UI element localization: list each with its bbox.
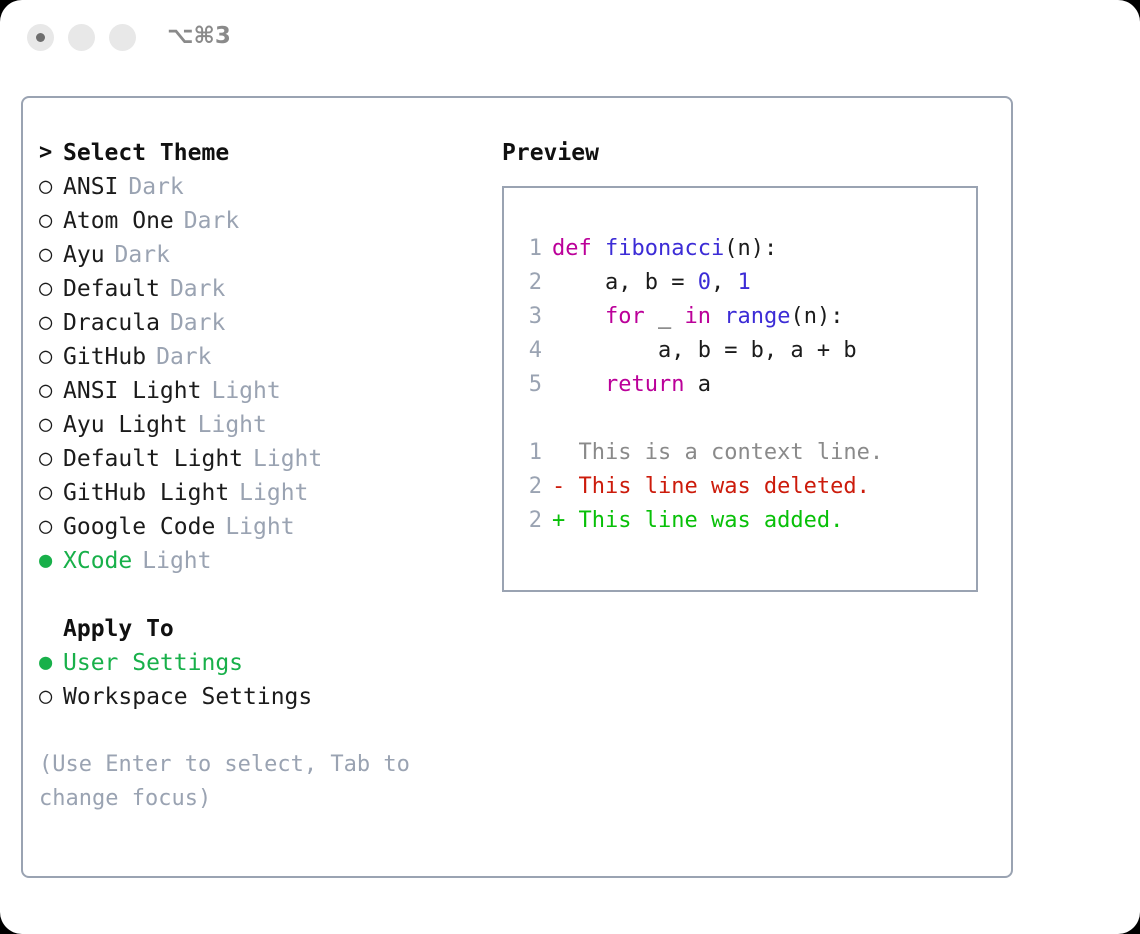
- theme-option-label: Atom One: [63, 204, 174, 238]
- theme-option-label: ANSI Light: [63, 374, 201, 408]
- code-token-num: 1: [737, 270, 750, 295]
- diff-line-add: 2+ This line was added.: [520, 504, 976, 538]
- radio-unselected-icon: ○: [39, 238, 63, 272]
- theme-option-label: GitHub Light: [63, 476, 229, 510]
- theme-option-default-light[interactable]: ○Default LightLight: [39, 442, 469, 476]
- theme-option-category: Dark: [115, 238, 170, 272]
- apply-to-option-workspace-settings[interactable]: ○Workspace Settings: [39, 680, 469, 714]
- list-spacer: [39, 578, 469, 612]
- diff-line-del: 2- This line was deleted.: [520, 470, 976, 504]
- theme-picker-panel: >Select Theme ○ANSIDark○Atom OneDark○Ayu…: [21, 96, 1013, 878]
- theme-option-category: Dark: [170, 272, 225, 306]
- code-line: 3 for _ in range(n):: [520, 300, 976, 334]
- theme-list-column: >Select Theme ○ANSIDark○Atom OneDark○Ayu…: [39, 136, 469, 816]
- code-indent: [552, 304, 605, 329]
- code-token-plain: a, b = b, a + b: [658, 338, 857, 363]
- code-token-plain: (n):: [790, 304, 843, 329]
- code-diff-gap: [520, 402, 976, 436]
- code-token-fn: range: [724, 304, 790, 329]
- theme-option-label: Ayu: [63, 238, 105, 272]
- preview-box: 1def fibonacci(n):2 a, b = 0, 13 for _ i…: [502, 186, 978, 592]
- apply-to-option-list: ●User Settings○Workspace Settings: [39, 646, 469, 714]
- theme-option-google-code[interactable]: ○Google CodeLight: [39, 510, 469, 544]
- theme-option-ayu[interactable]: ○AyuDark: [39, 238, 469, 272]
- diff-line-number: 2: [520, 470, 542, 504]
- apply-to-option-label: User Settings: [63, 646, 243, 680]
- code-token-plain: (n):: [724, 236, 777, 261]
- theme-option-ansi[interactable]: ○ANSIDark: [39, 170, 469, 204]
- theme-option-label: ANSI: [63, 170, 118, 204]
- diff-text: This is a context line.: [579, 440, 884, 465]
- window-dot-second[interactable]: [68, 24, 95, 51]
- app-window: ⌥⌘3 >Select Theme ○ANSIDark○Atom OneDark…: [0, 0, 1140, 934]
- theme-option-category: Light: [225, 510, 294, 544]
- code-line: 5 return a: [520, 368, 976, 402]
- radio-unselected-icon: ○: [39, 374, 63, 408]
- radio-unselected-icon: ○: [39, 340, 63, 374]
- prompt-caret-icon: >: [39, 136, 63, 170]
- radio-unselected-icon: ○: [39, 408, 63, 442]
- radio-unselected-icon: ○: [39, 510, 63, 544]
- radio-unselected-icon: ○: [39, 170, 63, 204]
- theme-option-category: Light: [253, 442, 322, 476]
- code-token-plain: _: [658, 304, 685, 329]
- code-line-number: 4: [520, 334, 542, 368]
- theme-option-xcode[interactable]: ●XCodeLight: [39, 544, 469, 578]
- preview-column: Preview 1def fibonacci(n):2 a, b = 0, 13…: [502, 136, 992, 592]
- code-token-plain: a: [698, 372, 711, 397]
- diff-line-number: 2: [520, 504, 542, 538]
- diff-line-number: 1: [520, 436, 542, 470]
- apply-to-option-user-settings[interactable]: ●User Settings: [39, 646, 469, 680]
- diff-text: This line was added.: [579, 508, 844, 533]
- code-line: 4 a, b = b, a + b: [520, 334, 976, 368]
- radio-unselected-icon: ○: [39, 306, 63, 340]
- theme-option-label: Dracula: [63, 306, 160, 340]
- code-token-num: 0: [698, 270, 711, 295]
- diff-sign: [552, 440, 579, 465]
- window-dot-third[interactable]: [109, 24, 136, 51]
- theme-option-atom-one[interactable]: ○Atom OneDark: [39, 204, 469, 238]
- window-dot-active-core: [36, 33, 45, 42]
- select-theme-heading: >Select Theme: [39, 136, 469, 170]
- radio-unselected-icon: ○: [39, 442, 63, 476]
- code-sample: 1def fibonacci(n):2 a, b = 0, 13 for _ i…: [520, 232, 976, 402]
- code-line: 2 a, b = 0, 1: [520, 266, 976, 300]
- theme-option-category: Light: [198, 408, 267, 442]
- code-token-plain: ,: [711, 270, 738, 295]
- apply-to-option-label: Workspace Settings: [63, 680, 312, 714]
- code-token-kw: for: [605, 304, 658, 329]
- window-controls: [27, 24, 136, 51]
- apply-to-heading: Apply To: [39, 612, 469, 646]
- theme-option-category: Dark: [156, 340, 211, 374]
- theme-option-category: Light: [211, 374, 280, 408]
- select-theme-heading-label: Select Theme: [63, 136, 229, 170]
- radio-unselected-icon: ○: [39, 680, 63, 714]
- code-line-number: 5: [520, 368, 542, 402]
- code-line-number: 2: [520, 266, 542, 300]
- hint-spacer: [39, 714, 469, 748]
- theme-option-category: Light: [142, 544, 211, 578]
- theme-option-ayu-light[interactable]: ○Ayu LightLight: [39, 408, 469, 442]
- radio-selected-icon: ●: [39, 544, 63, 578]
- theme-option-label: Ayu Light: [63, 408, 188, 442]
- code-token-kw: def: [552, 236, 605, 261]
- diff-text: This line was deleted.: [579, 474, 870, 499]
- theme-option-category: Dark: [184, 204, 239, 238]
- code-indent: [552, 372, 605, 397]
- code-line-number: 3: [520, 300, 542, 334]
- theme-option-label: GitHub: [63, 340, 146, 374]
- code-token-kw: return: [605, 372, 698, 397]
- diff-sign: -: [552, 474, 579, 499]
- theme-option-ansi-light[interactable]: ○ANSI LightLight: [39, 374, 469, 408]
- theme-option-list: ○ANSIDark○Atom OneDark○AyuDark○DefaultDa…: [39, 170, 469, 578]
- radio-unselected-icon: ○: [39, 476, 63, 510]
- code-indent: [552, 338, 658, 363]
- radio-unselected-icon: ○: [39, 204, 63, 238]
- theme-option-github[interactable]: ○GitHubDark: [39, 340, 469, 374]
- preview-title: Preview: [502, 136, 992, 170]
- radio-unselected-icon: ○: [39, 272, 63, 306]
- theme-option-category: Dark: [128, 170, 183, 204]
- theme-option-default[interactable]: ○DefaultDark: [39, 272, 469, 306]
- diff-sign: +: [552, 508, 579, 533]
- code-indent: [552, 270, 605, 295]
- diff-line-ctx: 1 This is a context line.: [520, 436, 976, 470]
- code-line: 1def fibonacci(n):: [520, 232, 976, 266]
- theme-option-category: Light: [239, 476, 308, 510]
- theme-option-label: Google Code: [63, 510, 215, 544]
- theme-option-label: Default Light: [63, 442, 243, 476]
- keyboard-shortcut-label: ⌥⌘3: [167, 23, 231, 49]
- keyboard-hint: (Use Enter to select, Tab to change focu…: [39, 748, 439, 816]
- code-token-fn: fibonacci: [605, 236, 724, 261]
- code-line-number: 1: [520, 232, 542, 266]
- theme-option-dracula[interactable]: ○DraculaDark: [39, 306, 469, 340]
- apply-to-heading-label: Apply To: [63, 612, 174, 646]
- window-dot-active[interactable]: [27, 24, 54, 51]
- diff-sample: 1 This is a context line.2- This line wa…: [520, 436, 976, 538]
- theme-option-label: XCode: [63, 544, 132, 578]
- theme-option-category: Dark: [170, 306, 225, 340]
- radio-selected-icon: ●: [39, 646, 63, 680]
- code-token-kw: in: [684, 304, 724, 329]
- theme-option-github-light[interactable]: ○GitHub LightLight: [39, 476, 469, 510]
- title-bar: ⌥⌘3: [0, 0, 1140, 78]
- code-token-plain: a, b =: [605, 270, 698, 295]
- theme-option-label: Default: [63, 272, 160, 306]
